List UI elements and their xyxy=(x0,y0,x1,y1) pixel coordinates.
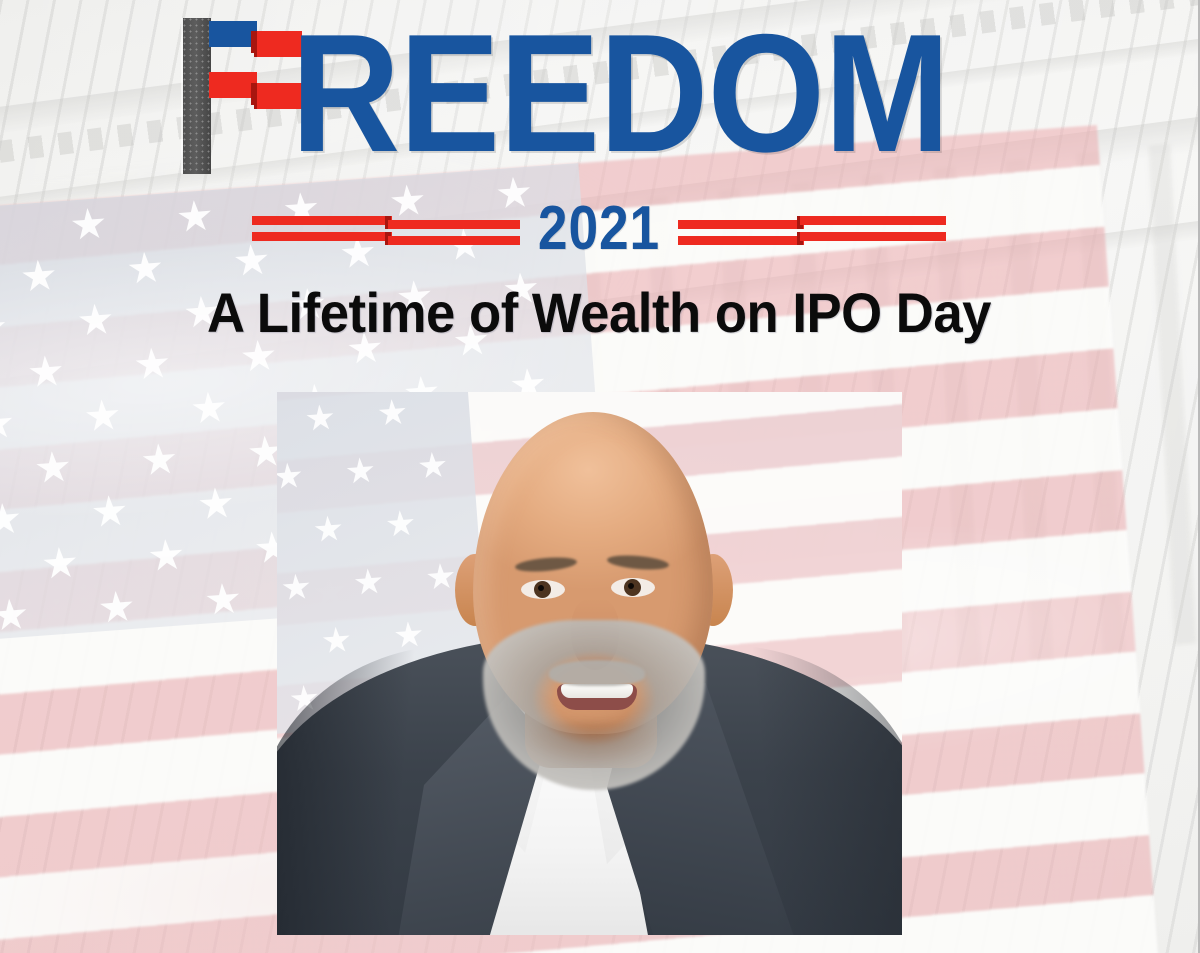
flag-star xyxy=(393,620,423,650)
flag-star xyxy=(377,398,407,428)
flag-star xyxy=(281,572,311,602)
flag-star xyxy=(305,403,335,433)
flag-star xyxy=(277,461,303,491)
flag-star xyxy=(417,451,447,481)
flag-star xyxy=(313,514,343,544)
flag-star xyxy=(385,509,415,539)
moustache xyxy=(549,660,645,686)
promo-banner: REEDOM 2021 A Lifetime of Wealth on IPO … xyxy=(0,0,1200,953)
flag-star xyxy=(277,631,279,661)
flag-star xyxy=(321,625,351,655)
eye-right xyxy=(611,578,655,597)
eye-left xyxy=(521,580,565,599)
flag-star xyxy=(345,456,375,486)
chin-shadow xyxy=(525,722,661,766)
mouth xyxy=(557,684,637,710)
flag-star xyxy=(353,567,383,597)
presenter-portrait xyxy=(277,392,902,935)
flag-star xyxy=(425,562,455,592)
